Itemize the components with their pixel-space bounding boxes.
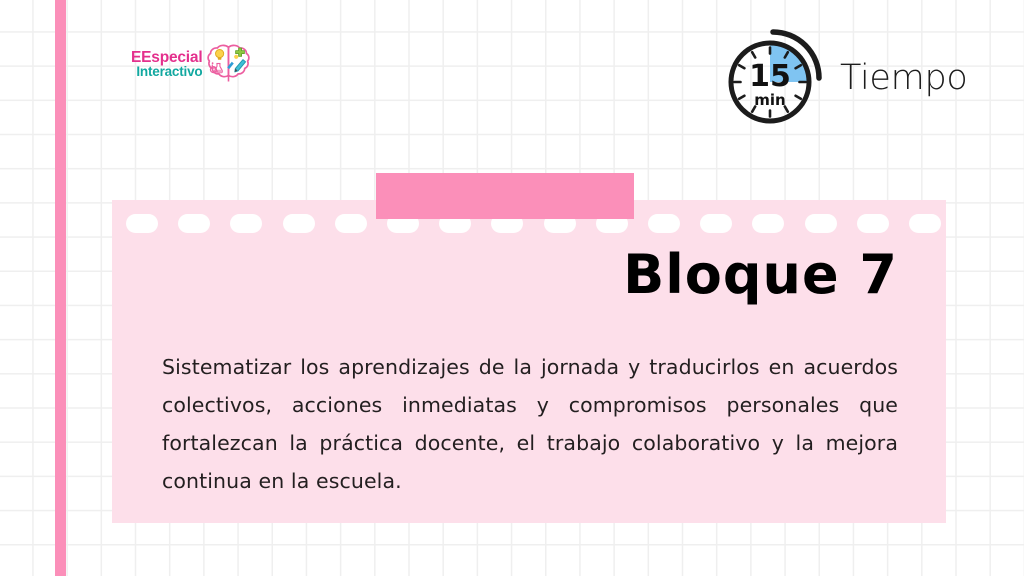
brand-name-line1: EEspecial: [131, 50, 202, 66]
timer-unit-text: min: [754, 91, 785, 109]
brand-name-line2: Interactivo: [136, 65, 202, 79]
brand-logo-text: EEspecial Interactivo: [131, 50, 202, 79]
content-card: Bloque 7 Sistematizar los aprendizajes d…: [112, 200, 946, 523]
brain-icon: [206, 42, 252, 86]
perforation-pill: [752, 214, 784, 233]
timer-value-text: 15: [749, 59, 791, 94]
perforation-pill: [335, 214, 367, 233]
perforation-pill: [700, 214, 732, 233]
perforation-pill: [230, 214, 262, 233]
perforation-pill: [805, 214, 837, 233]
card-title: Bloque 7: [623, 248, 898, 302]
perforation-pill: [648, 214, 680, 233]
slide-canvas: EEspecial Interactivo: [0, 0, 1024, 576]
brand-logo: EEspecial Interactivo: [131, 42, 252, 86]
perforation-pill: [178, 214, 210, 233]
perforation-pill: [126, 214, 158, 233]
perforation-pill: [857, 214, 889, 233]
card-top-tab: [376, 173, 634, 219]
timer-label: Tiempo: [840, 58, 968, 98]
timer-widget: 15 min Tiempo: [718, 24, 968, 132]
perforation-pill: [909, 214, 941, 233]
card-body-text: Sistematizar los aprendizajes de la jorn…: [162, 348, 898, 500]
stopwatch-icon: 15 min: [718, 24, 836, 132]
perforation-pill: [283, 214, 315, 233]
left-margin-rule: [55, 0, 66, 576]
